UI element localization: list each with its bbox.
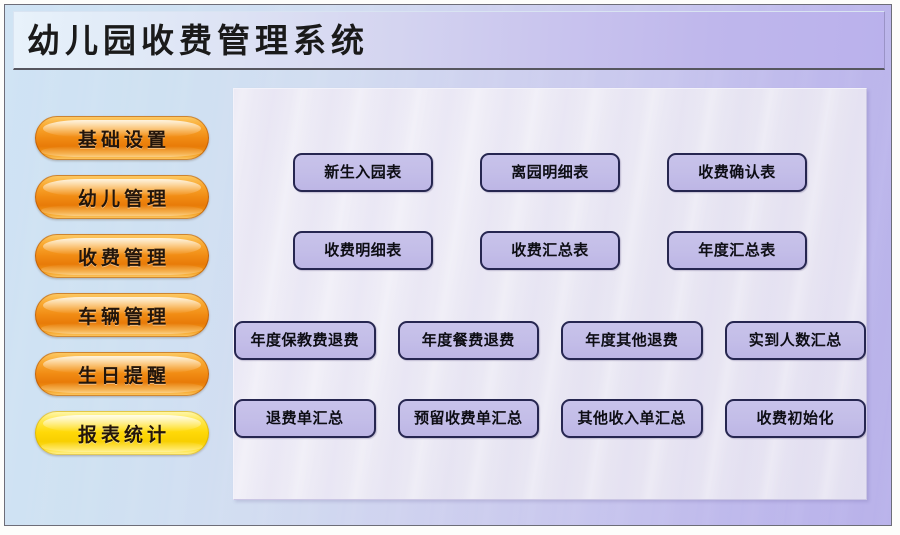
report-button-fee-initialization[interactable]: 收费初始化 — [725, 399, 867, 438]
report-button-label: 年度餐费退费 — [422, 333, 515, 348]
report-button-label: 新生入园表 — [324, 165, 402, 180]
report-row: 年度保教费退费 年度餐费退费 年度其他退费 实到人数汇总 — [234, 321, 866, 360]
sidebar-item-label: 报表统计 — [74, 420, 170, 447]
report-button-new-enrollment[interactable]: 新生入园表 — [293, 153, 433, 192]
report-row: 新生入园表 离园明细表 收费确认表 — [234, 153, 866, 192]
report-button-annual-other-refund[interactable]: 年度其他退费 — [561, 321, 703, 360]
report-button-label: 收费确认表 — [698, 165, 776, 180]
report-button-label: 实到人数汇总 — [749, 333, 842, 348]
page-title: 幼儿园收费管理系统 — [27, 24, 369, 57]
title-bar: 幼儿园收费管理系统 — [13, 11, 885, 70]
report-button-annual-meal-fee-refund[interactable]: 年度餐费退费 — [398, 321, 540, 360]
report-button-label: 收费初始化 — [756, 411, 834, 426]
report-button-actual-attendance-summary[interactable]: 实到人数汇总 — [725, 321, 867, 360]
report-button-departure-detail[interactable]: 离园明细表 — [480, 153, 620, 192]
report-button-fee-summary[interactable]: 收费汇总表 — [480, 231, 620, 270]
report-button-refund-slip-summary[interactable]: 退费单汇总 — [234, 399, 376, 438]
sidebar-item-fee-management[interactable]: 收费管理 — [35, 234, 209, 278]
report-button-annual-care-fee-refund[interactable]: 年度保教费退费 — [234, 321, 376, 360]
report-button-other-income-slip-summary[interactable]: 其他收入单汇总 — [561, 399, 703, 438]
report-button-label: 年度其他退费 — [585, 333, 678, 348]
report-button-label: 年度保教费退费 — [250, 333, 359, 348]
report-button-label: 年度汇总表 — [698, 243, 776, 258]
report-button-label: 预留收费单汇总 — [414, 411, 523, 426]
sidebar-item-report-statistics[interactable]: 报表统计 — [35, 411, 209, 455]
sidebar-item-label: 生日提醒 — [74, 361, 170, 388]
sidebar-item-label: 幼儿管理 — [74, 184, 170, 211]
report-button-label: 退费单汇总 — [266, 411, 344, 426]
sidebar-item-child-management[interactable]: 幼儿管理 — [35, 175, 209, 219]
report-button-reserved-fee-slip-summary[interactable]: 预留收费单汇总 — [398, 399, 540, 438]
report-button-label: 收费明细表 — [324, 243, 402, 258]
sidebar-item-label: 基础设置 — [74, 125, 170, 152]
report-button-label: 离园明细表 — [511, 165, 589, 180]
content-panel: 新生入园表 离园明细表 收费确认表 收费明细表 收费汇总表 年度汇总表 — [233, 88, 867, 500]
sidebar-item-birthday-reminder[interactable]: 生日提醒 — [35, 352, 209, 396]
report-row: 退费单汇总 预留收费单汇总 其他收入单汇总 收费初始化 — [234, 399, 866, 438]
sidebar-navigation: 基础设置 幼儿管理 收费管理 车辆管理 生日提醒 报表统计 — [12, 75, 219, 523]
report-button-label: 其他收入单汇总 — [577, 411, 686, 426]
sidebar-item-basic-settings[interactable]: 基础设置 — [35, 116, 209, 160]
sidebar-item-vehicle-management[interactable]: 车辆管理 — [35, 293, 209, 337]
report-button-annual-summary[interactable]: 年度汇总表 — [667, 231, 807, 270]
sidebar-item-label: 车辆管理 — [74, 302, 170, 329]
application-window: 幼儿园收费管理系统 基础设置 幼儿管理 收费管理 车辆管理 生日提醒 报表统计 … — [4, 4, 892, 526]
report-button-fee-detail[interactable]: 收费明细表 — [293, 231, 433, 270]
report-button-fee-confirmation[interactable]: 收费确认表 — [667, 153, 807, 192]
sidebar-item-label: 收费管理 — [74, 243, 170, 270]
report-row: 收费明细表 收费汇总表 年度汇总表 — [234, 231, 866, 270]
report-button-label: 收费汇总表 — [511, 243, 589, 258]
